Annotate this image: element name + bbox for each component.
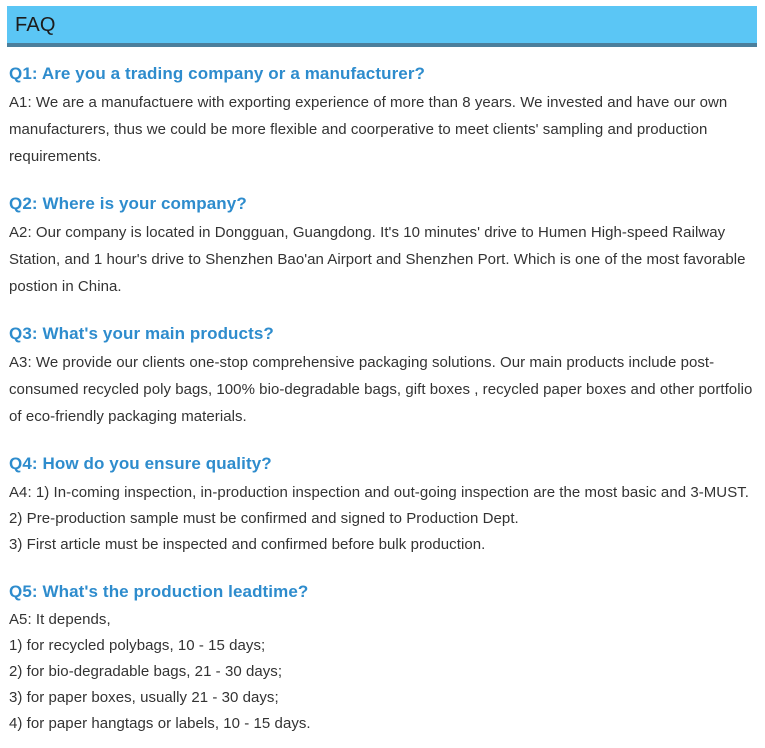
faq-answer-3: A3: We provide our clients one-stop comp… [9, 349, 753, 430]
faq-banner-title: FAQ [7, 15, 56, 35]
faq-item-3: Q3: What's your main products? A3: We pr… [9, 322, 753, 430]
faq-answer-5-line-3: 2) for bio-degradable bags, 21 - 30 days… [9, 659, 753, 685]
faq-question-2: Q2: Where is your company? [9, 192, 753, 216]
faq-question-3: Q3: What's your main products? [9, 322, 753, 346]
faq-question-4: Q4: How do you ensure quality? [9, 452, 753, 476]
faq-answer-5-line-2: 1) for recycled polybags, 10 - 15 days; [9, 633, 753, 659]
faq-answer-4: A4: 1) In-coming inspection, in-producti… [9, 479, 753, 506]
faq-answer-4-line-3: 3) First article must be inspected and c… [9, 532, 753, 558]
faq-answer-2: A2: Our company is located in Dongguan, … [9, 219, 753, 300]
faq-item-5: Q5: What's the production leadtime? A5: … [9, 580, 753, 737]
faq-content: Q1: Are you a trading company or a manuf… [9, 62, 753, 737]
faq-page: FAQ Q1: Are you a trading company or a m… [0, 0, 765, 748]
faq-answer-5-line-1: A5: It depends, [9, 607, 753, 633]
faq-item-1: Q1: Are you a trading company or a manuf… [9, 62, 753, 170]
faq-answer-4-line-2: 2) Pre-production sample must be confirm… [9, 506, 753, 532]
faq-answer-1: A1: We are a manufactuere with exporting… [9, 89, 753, 170]
faq-question-1: Q1: Are you a trading company or a manuf… [9, 62, 753, 86]
faq-question-5: Q5: What's the production leadtime? [9, 580, 753, 604]
faq-answer-5-line-4: 3) for paper boxes, usually 21 - 30 days… [9, 685, 753, 711]
faq-answer-5-line-5: 4) for paper hangtags or labels, 10 - 15… [9, 711, 753, 737]
faq-banner: FAQ [7, 6, 757, 47]
faq-item-2: Q2: Where is your company? A2: Our compa… [9, 192, 753, 300]
faq-item-4: Q4: How do you ensure quality? A4: 1) In… [9, 452, 753, 558]
